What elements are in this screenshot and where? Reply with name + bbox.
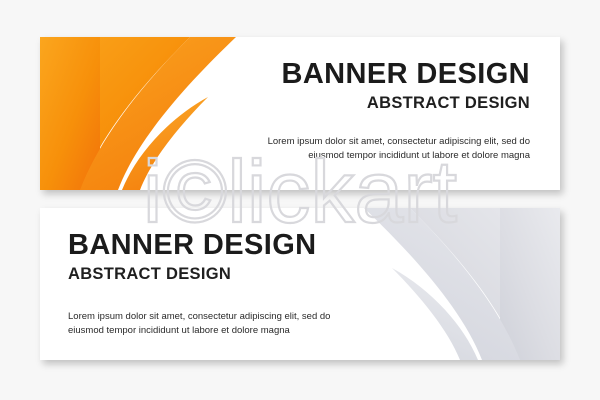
page-title: BANNER DESIGN xyxy=(200,59,530,90)
body-paragraph: Lorem ipsum dolor sit amet, consectetur … xyxy=(200,135,530,164)
body-paragraph: Lorem ipsum dolor sit amet, consectetur … xyxy=(68,310,408,339)
orange-banner-text-block: BANNER DESIGN ABSTRACT DESIGN Lorem ipsu… xyxy=(200,59,530,164)
page-subtitle: ABSTRACT DESIGN xyxy=(200,94,530,113)
orange-banner[interactable]: BANNER DESIGN ABSTRACT DESIGN Lorem ipsu… xyxy=(40,37,560,190)
page-subtitle: ABSTRACT DESIGN xyxy=(68,265,408,284)
body-line-1: Lorem ipsum dolor sit amet, consectetur … xyxy=(200,135,530,150)
gray-banner-text-block: BANNER DESIGN ABSTRACT DESIGN Lorem ipsu… xyxy=(68,230,408,339)
banner-preview-canvas: BANNER DESIGN ABSTRACT DESIGN Lorem ipsu… xyxy=(0,0,600,400)
body-line-2: eiusmod tempor incididunt ut labore et d… xyxy=(200,149,530,164)
page-title: BANNER DESIGN xyxy=(68,230,408,261)
body-line-1: Lorem ipsum dolor sit amet, consectetur … xyxy=(68,310,408,325)
gray-banner[interactable]: BANNER DESIGN ABSTRACT DESIGN Lorem ipsu… xyxy=(40,208,560,360)
body-line-2: eiusmod tempor incididunt ut labore et d… xyxy=(68,324,408,339)
